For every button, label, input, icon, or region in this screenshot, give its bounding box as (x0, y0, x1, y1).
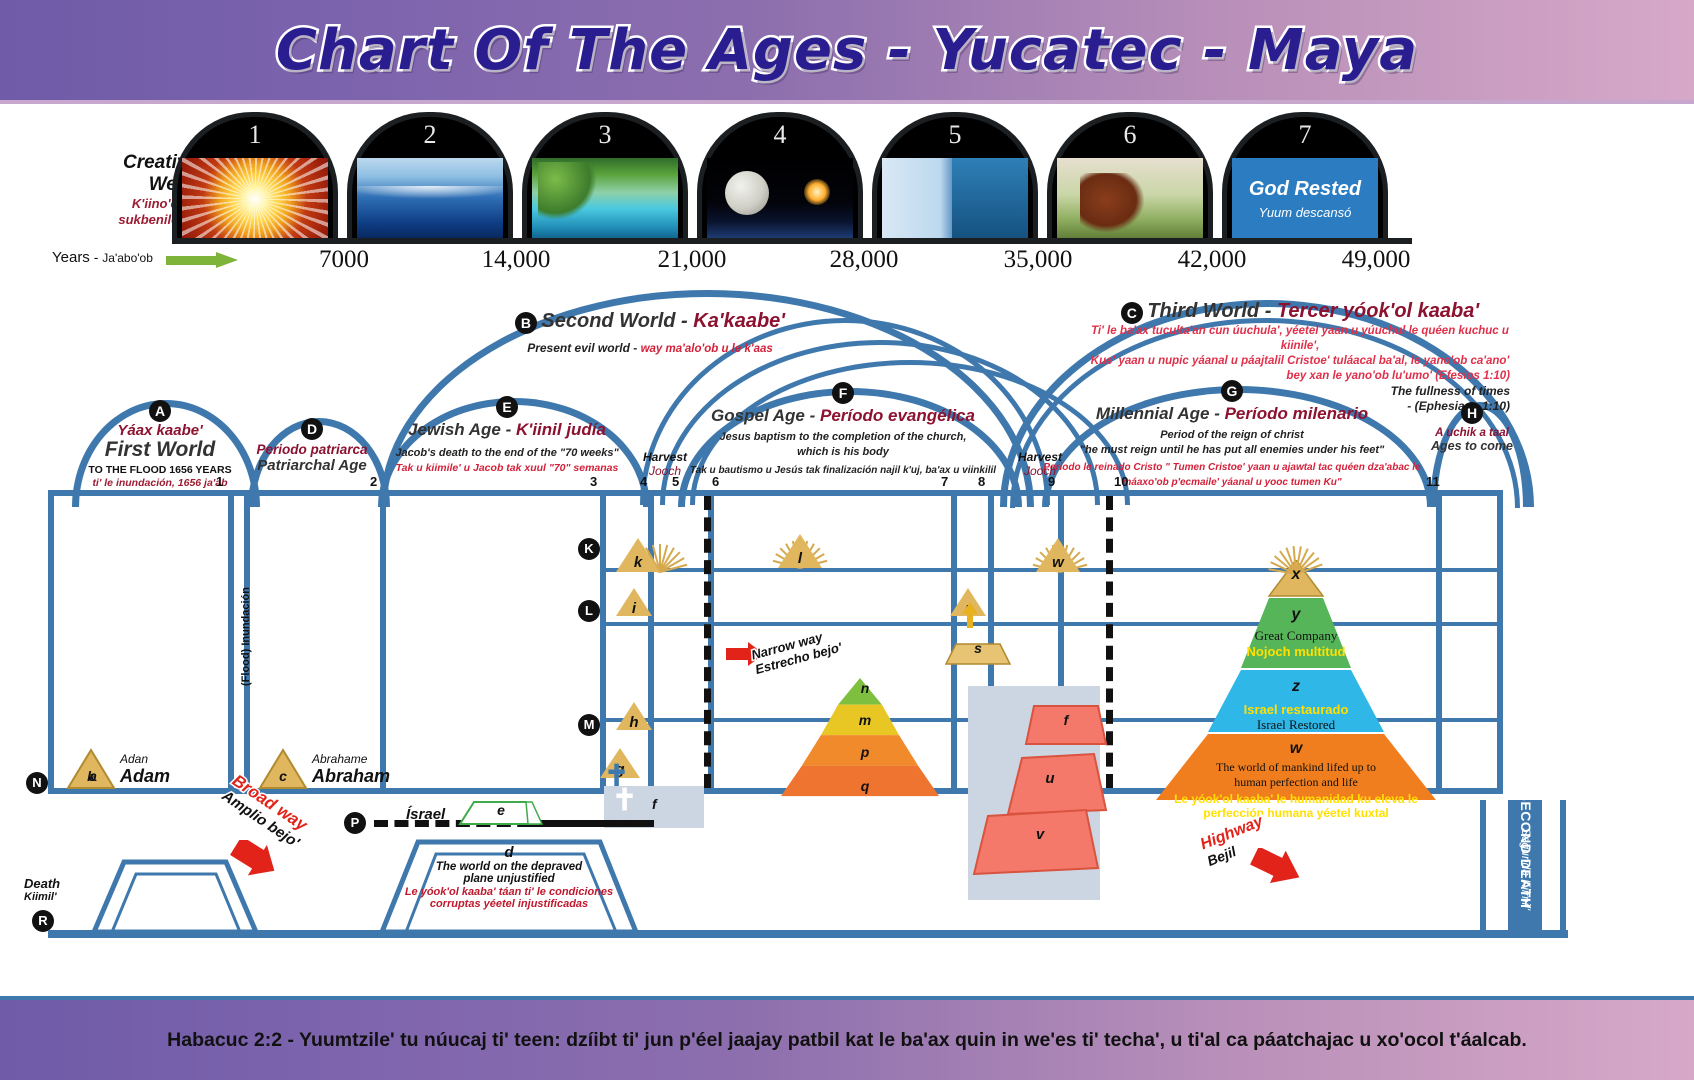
triangle-h: h (616, 702, 652, 730)
third-world-title-en: Third World (1147, 300, 1259, 322)
pyramid-letter-w: w (1146, 740, 1446, 758)
badge-D: D (301, 418, 323, 440)
creative-day-image-creation-light (182, 158, 328, 240)
center-pyramid-letter-m: m (760, 712, 970, 728)
year-tick: 7000 (264, 246, 424, 274)
creative-day-3: 3 (522, 112, 688, 243)
col-number-10: 10 (1114, 474, 1128, 489)
grid-vline-left (48, 490, 54, 788)
creative-day-number: 6 (1047, 120, 1213, 150)
jewish-title-es: K'iinil judía (516, 420, 606, 439)
depraved-line1: The world on the depraved (378, 861, 640, 873)
gospel-sub-en-2: which is his body (676, 445, 1010, 460)
plane-letter-f: f (652, 796, 657, 812)
plane-letter-e: e (456, 802, 546, 818)
row-badge-K: K (578, 538, 600, 560)
death-en: Death (24, 876, 60, 891)
years-arrow-icon (166, 252, 242, 268)
god-rested-es: Yuum descansó (1259, 205, 1352, 220)
depraved-line3: Le yóok'ol kaaba' táan ti' le condicione… (378, 886, 640, 898)
harvest-en: Harvest (630, 450, 700, 464)
plane-letter-v: v (966, 826, 1114, 843)
world-mankind-en-1: The world of mankind lifed up to (1146, 760, 1446, 775)
second-world-sub-en: Present evil world - (527, 341, 640, 355)
arrow-broad-way-icon (228, 840, 280, 888)
great-company-es: Nojoch multitud (1146, 644, 1446, 659)
second-death-right-rule (1560, 800, 1566, 938)
plane-letter-f2: f (1020, 712, 1112, 728)
grid-top-border (48, 490, 1503, 496)
third-world-line2: Kue' yaan u nupic yáanal u páajtalil Cri… (1090, 354, 1510, 369)
row-badge-M: M (578, 714, 600, 736)
creative-day-number: 1 (172, 120, 338, 150)
world-mankind-es-2: perfección humana yéetel kuxtal (1146, 806, 1446, 820)
label-ages-to-come: H A uchik a taal Ages to come (1424, 402, 1520, 453)
depraved-line2: plane unjustified (378, 873, 640, 885)
flood-en: (Flood) (240, 649, 252, 686)
creative-day-number: 3 (522, 120, 688, 150)
years-label: Years - Ja'abo'ob (52, 249, 153, 266)
years-label-maya: Ja'abo'ob (102, 251, 153, 265)
second-death-left-rule (1480, 800, 1486, 938)
year-tick: 21,000 (612, 246, 772, 274)
grid-vline-2 (380, 490, 386, 788)
arrow-up-icon (960, 602, 980, 628)
adam-labels: Adan Adam (120, 752, 170, 787)
creative-day-7: 7 God Rested Yuum descansó (1222, 112, 1388, 243)
creative-week-strip: 1 2 3 4 5 6 7 (172, 112, 1412, 243)
triangle-l: l (778, 534, 822, 568)
adam-es: Adan (120, 752, 170, 766)
gospel-sub-es: Tak u bautismo u Jesús tak finalización … (676, 463, 1010, 478)
patriarchal-title-en: Patriarchal Age (246, 457, 378, 474)
plane-letter-u: u (988, 770, 1112, 787)
col-number-4: 4 (640, 474, 647, 489)
year-tick: 35,000 (958, 246, 1118, 274)
label-jewish-age: E Jewish Age - K'iinil judía Jacob's dea… (378, 396, 636, 476)
plane-letter-w: w (1036, 554, 1080, 571)
rays-x (1236, 514, 1356, 574)
jewish-sub-es: Tak u kiimile' u Jacob tak xuul "70" sem… (378, 461, 636, 476)
label-patriarchal-age: D Periodo patriarca Patriarchal Age (246, 418, 378, 474)
year-tick: 49,000 (1296, 246, 1456, 274)
plane-letter-k: k (616, 554, 660, 571)
pyramid-apex-letter: x (1146, 566, 1446, 584)
creative-day-image-birds-fish (882, 158, 1028, 240)
row-badge-R: R (32, 910, 54, 932)
badge-H: H (1461, 402, 1483, 424)
gospel-title-en: Gospel Age (711, 406, 805, 425)
third-world-title-es: Tercer yóok'ol kaaba' (1277, 300, 1479, 322)
creative-day-number: 5 (872, 120, 1038, 150)
badge-A: A (149, 400, 171, 422)
second-world-title-en: Second World (541, 310, 675, 332)
col-number-6: 6 (712, 474, 719, 489)
col-number-2: 2 (370, 474, 377, 489)
abraham-es: Abrahame (312, 752, 390, 766)
badge-C: C (1121, 302, 1143, 324)
death-label: Death Kiimil' (24, 876, 60, 903)
triangle-i: i (616, 588, 652, 616)
god-rested-en: God Rested (1249, 178, 1361, 201)
plane-letter-d: d (378, 844, 640, 861)
creative-day-number: 2 (347, 120, 513, 150)
center-pyramid-letter-n: n (760, 680, 970, 696)
label-second-world: B Second World - Ka'kaabe' Present evil … (450, 310, 850, 357)
col-number-3: 3 (590, 474, 597, 489)
plane-letter-h: h (616, 714, 652, 731)
third-world-line1: Ti' le ba'ax tuculta'an cun úuchula', yé… (1090, 324, 1510, 354)
creative-day-god-rested-panel: God Rested Yuum descansó (1232, 158, 1378, 240)
second-world-sub-es: way ma'alo'ob u le k'aas (641, 343, 773, 355)
year-tick: 42,000 (1132, 246, 1292, 274)
letter-a-overlay: a (68, 768, 118, 784)
creative-day-5: 5 (872, 112, 1038, 243)
badge-F: F (832, 382, 854, 404)
first-world-title-es: Yáax kaabe' (78, 422, 242, 439)
creative-day-image-ocean-sky (357, 158, 503, 240)
creative-day-1: 1 (172, 112, 338, 243)
millennial-sub-en-2: "he must reign until he has put all enem… (1040, 443, 1424, 458)
millennial-title-es: Período milenario (1225, 404, 1369, 423)
bottom-rule (48, 930, 1568, 938)
adam-en: Adam (120, 766, 170, 787)
col-number-9: 9 (1048, 474, 1055, 489)
world-mankind-es-1: Le yóok'ol kaaba' le humanidad ku eleva … (1146, 792, 1446, 806)
depraved-line4: corruptas yéetel injustificadas (378, 898, 640, 910)
creative-day-image-moon-sun (707, 158, 853, 240)
flood-es: Inundación (240, 587, 252, 646)
row-badge-L: L (578, 600, 600, 622)
creative-day-2: 2 (347, 112, 513, 243)
row-badge-N: N (26, 772, 48, 794)
label-gospel-age: F Gospel Age - Período evangélica Jesus … (676, 382, 1010, 478)
world-mankind-en-2: human perfection and life (1146, 775, 1446, 790)
creative-day-image-man-animals (1057, 158, 1203, 240)
title-underline (0, 100, 1694, 104)
death-es: Kiimil' (24, 891, 60, 903)
badge-E: E (496, 396, 518, 418)
second-death-es: Segunda Kiimil' (1519, 809, 1533, 929)
ages-to-come-en: Ages to come (1424, 439, 1520, 453)
israel-label: Ísrael (406, 806, 445, 823)
abraham-en: Abraham (312, 766, 390, 787)
great-company-en: Great Company (1146, 628, 1446, 644)
harvest-es: Jooch (1005, 464, 1075, 478)
center-pyramid-letter-p: p (760, 744, 970, 760)
millennial-title-en: Millennial Age (1096, 404, 1210, 423)
footer-banner: Habacuc 2:2 - Yuumtzile' tu núucaj ti' t… (0, 1000, 1694, 1080)
creative-day-4: 4 (697, 112, 863, 243)
col-number-7: 7 (941, 474, 948, 489)
creative-day-image-land-vegetation (532, 158, 678, 240)
depraved-world-labels: d The world on the depraved plane unjust… (378, 844, 640, 910)
creative-day-6: 6 (1047, 112, 1213, 243)
year-tick: 28,000 (784, 246, 944, 274)
pyramid-layer-great-company: y Great Company Nojoch multitud (1146, 606, 1446, 659)
plane-letter-s: s (938, 640, 1018, 656)
col-number-1: 1 (216, 474, 223, 489)
pyramid-letter-y: y (1146, 606, 1446, 624)
pyramid-layer-israel-restored: z Israel restaurado Israel Restored (1146, 678, 1446, 733)
triangle-k: k (616, 538, 660, 572)
center-pyramid-letter-q: q (760, 778, 970, 794)
millennial-sub-es-1: Período le reinado Cristo " Tumen Cristo… (1040, 460, 1424, 475)
israel-restored-en: Israel Restored (1146, 717, 1446, 733)
col-number-8: 8 (978, 474, 985, 489)
second-world-title-es: Ka'kaabe' (693, 310, 785, 332)
letter-c-overlay: c (258, 768, 308, 784)
years-label-en: Years (52, 249, 90, 266)
gospel-sub-en-1: Jesus baptism to the completion of the c… (676, 430, 1010, 445)
abraham-labels: Abrahame Abraham (312, 752, 390, 787)
creative-day-number: 4 (697, 120, 863, 150)
triangle-w: w (1036, 538, 1080, 572)
page-title: Chart Of The Ages - Yucatec - Maya (276, 18, 1418, 83)
label-millennial-age: G Millennial Age - Período milenario Per… (1040, 380, 1424, 490)
creative-week-base (172, 238, 1412, 244)
col-number-11: 11 (1426, 474, 1440, 489)
row-badge-P: P (344, 812, 366, 834)
badge-B: B (515, 312, 537, 334)
year-tick: 14,000 (436, 246, 596, 274)
title-banner: Chart Of The Ages - Yucatec - Maya (0, 0, 1694, 100)
grid-vline-right (1497, 490, 1503, 788)
second-death-bar: SECOND DEATH Segunda Kiimil' (1508, 800, 1542, 938)
plane-letter-l: l (778, 550, 822, 567)
millennial-sub-es-2: máaxo'ob p'ecmaile' yáanal u yooc tumen … (1040, 475, 1424, 490)
creative-day-number: 7 (1222, 120, 1388, 150)
first-world-title-en: First World (78, 438, 242, 462)
flood-label: (Flood) Inundación (226, 560, 244, 690)
pyramid-layer-world-of-mankind: w The world of mankind lifed up to human… (1146, 740, 1446, 820)
harvest-en: Harvest (1005, 450, 1075, 464)
badge-G: G (1221, 380, 1243, 402)
gospel-title-es: Período evangélica (820, 406, 975, 425)
jewish-title-en: Jewish Age (408, 420, 501, 439)
jewish-sub-en: Jacob's death to the end of the "70 week… (378, 446, 636, 461)
harvest-label-2: Harvest Jooch (1005, 450, 1075, 478)
footer-scripture: Habacuc 2:2 - Yuumtzile' tu núucaj ti' t… (153, 1029, 1541, 1052)
col-number-5: 5 (672, 474, 679, 489)
plane-letter-i: i (616, 600, 652, 617)
millennial-sub-en-1: Period of the reign of christ (1040, 428, 1424, 443)
patriarchal-title-es: Periodo patriarca (246, 442, 378, 457)
cross-icon-2: ✝ (612, 786, 637, 816)
israel-restored-es: Israel restaurado (1146, 702, 1446, 717)
arrow-highway-icon (1250, 848, 1306, 896)
ages-to-come-es: A uchik a taal (1424, 427, 1520, 439)
pyramid-letter-z: z (1146, 678, 1446, 696)
